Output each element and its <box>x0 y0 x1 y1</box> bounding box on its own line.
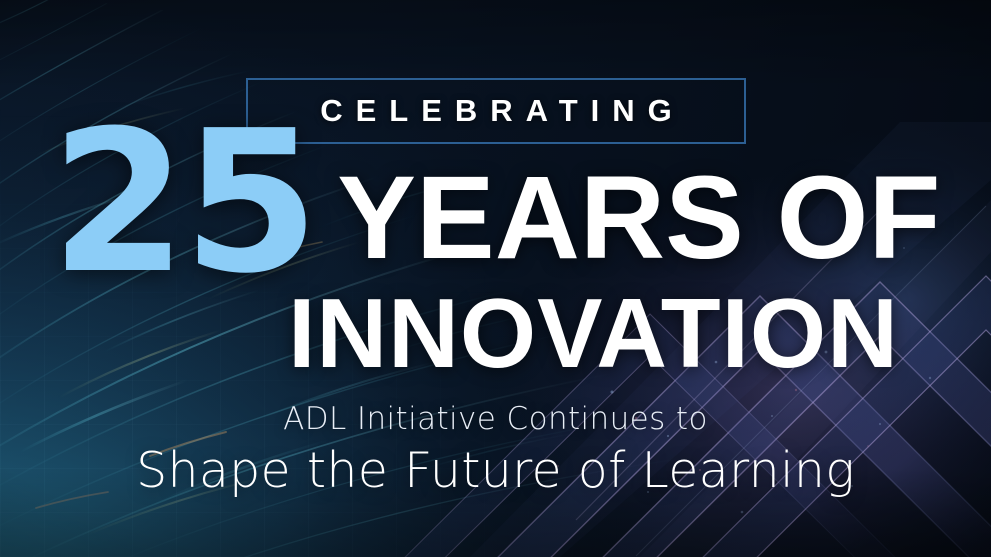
headline-block: 25 YEARS OF INNOVATION <box>0 158 991 382</box>
subtitle-line-one: ADL Initiative Continues to <box>0 400 991 439</box>
years-number: 25 <box>51 112 316 294</box>
subtitle-block: ADL Initiative Continues to Shape the Fu… <box>0 400 991 499</box>
celebration-banner: CELEBRATING 25 YEARS OF INNOVATION ADL I… <box>0 0 991 557</box>
years-of-text: YEARS OF <box>337 159 940 277</box>
innovation-text: INNOVATION <box>0 284 991 382</box>
celebrating-eyebrow-text: CELEBRATING <box>246 78 746 144</box>
headline-line-one: 25 YEARS OF <box>0 158 991 280</box>
banner-content: CELEBRATING 25 YEARS OF INNOVATION ADL I… <box>0 0 991 557</box>
subtitle-line-two: Shape the Future of Learning <box>0 443 991 499</box>
